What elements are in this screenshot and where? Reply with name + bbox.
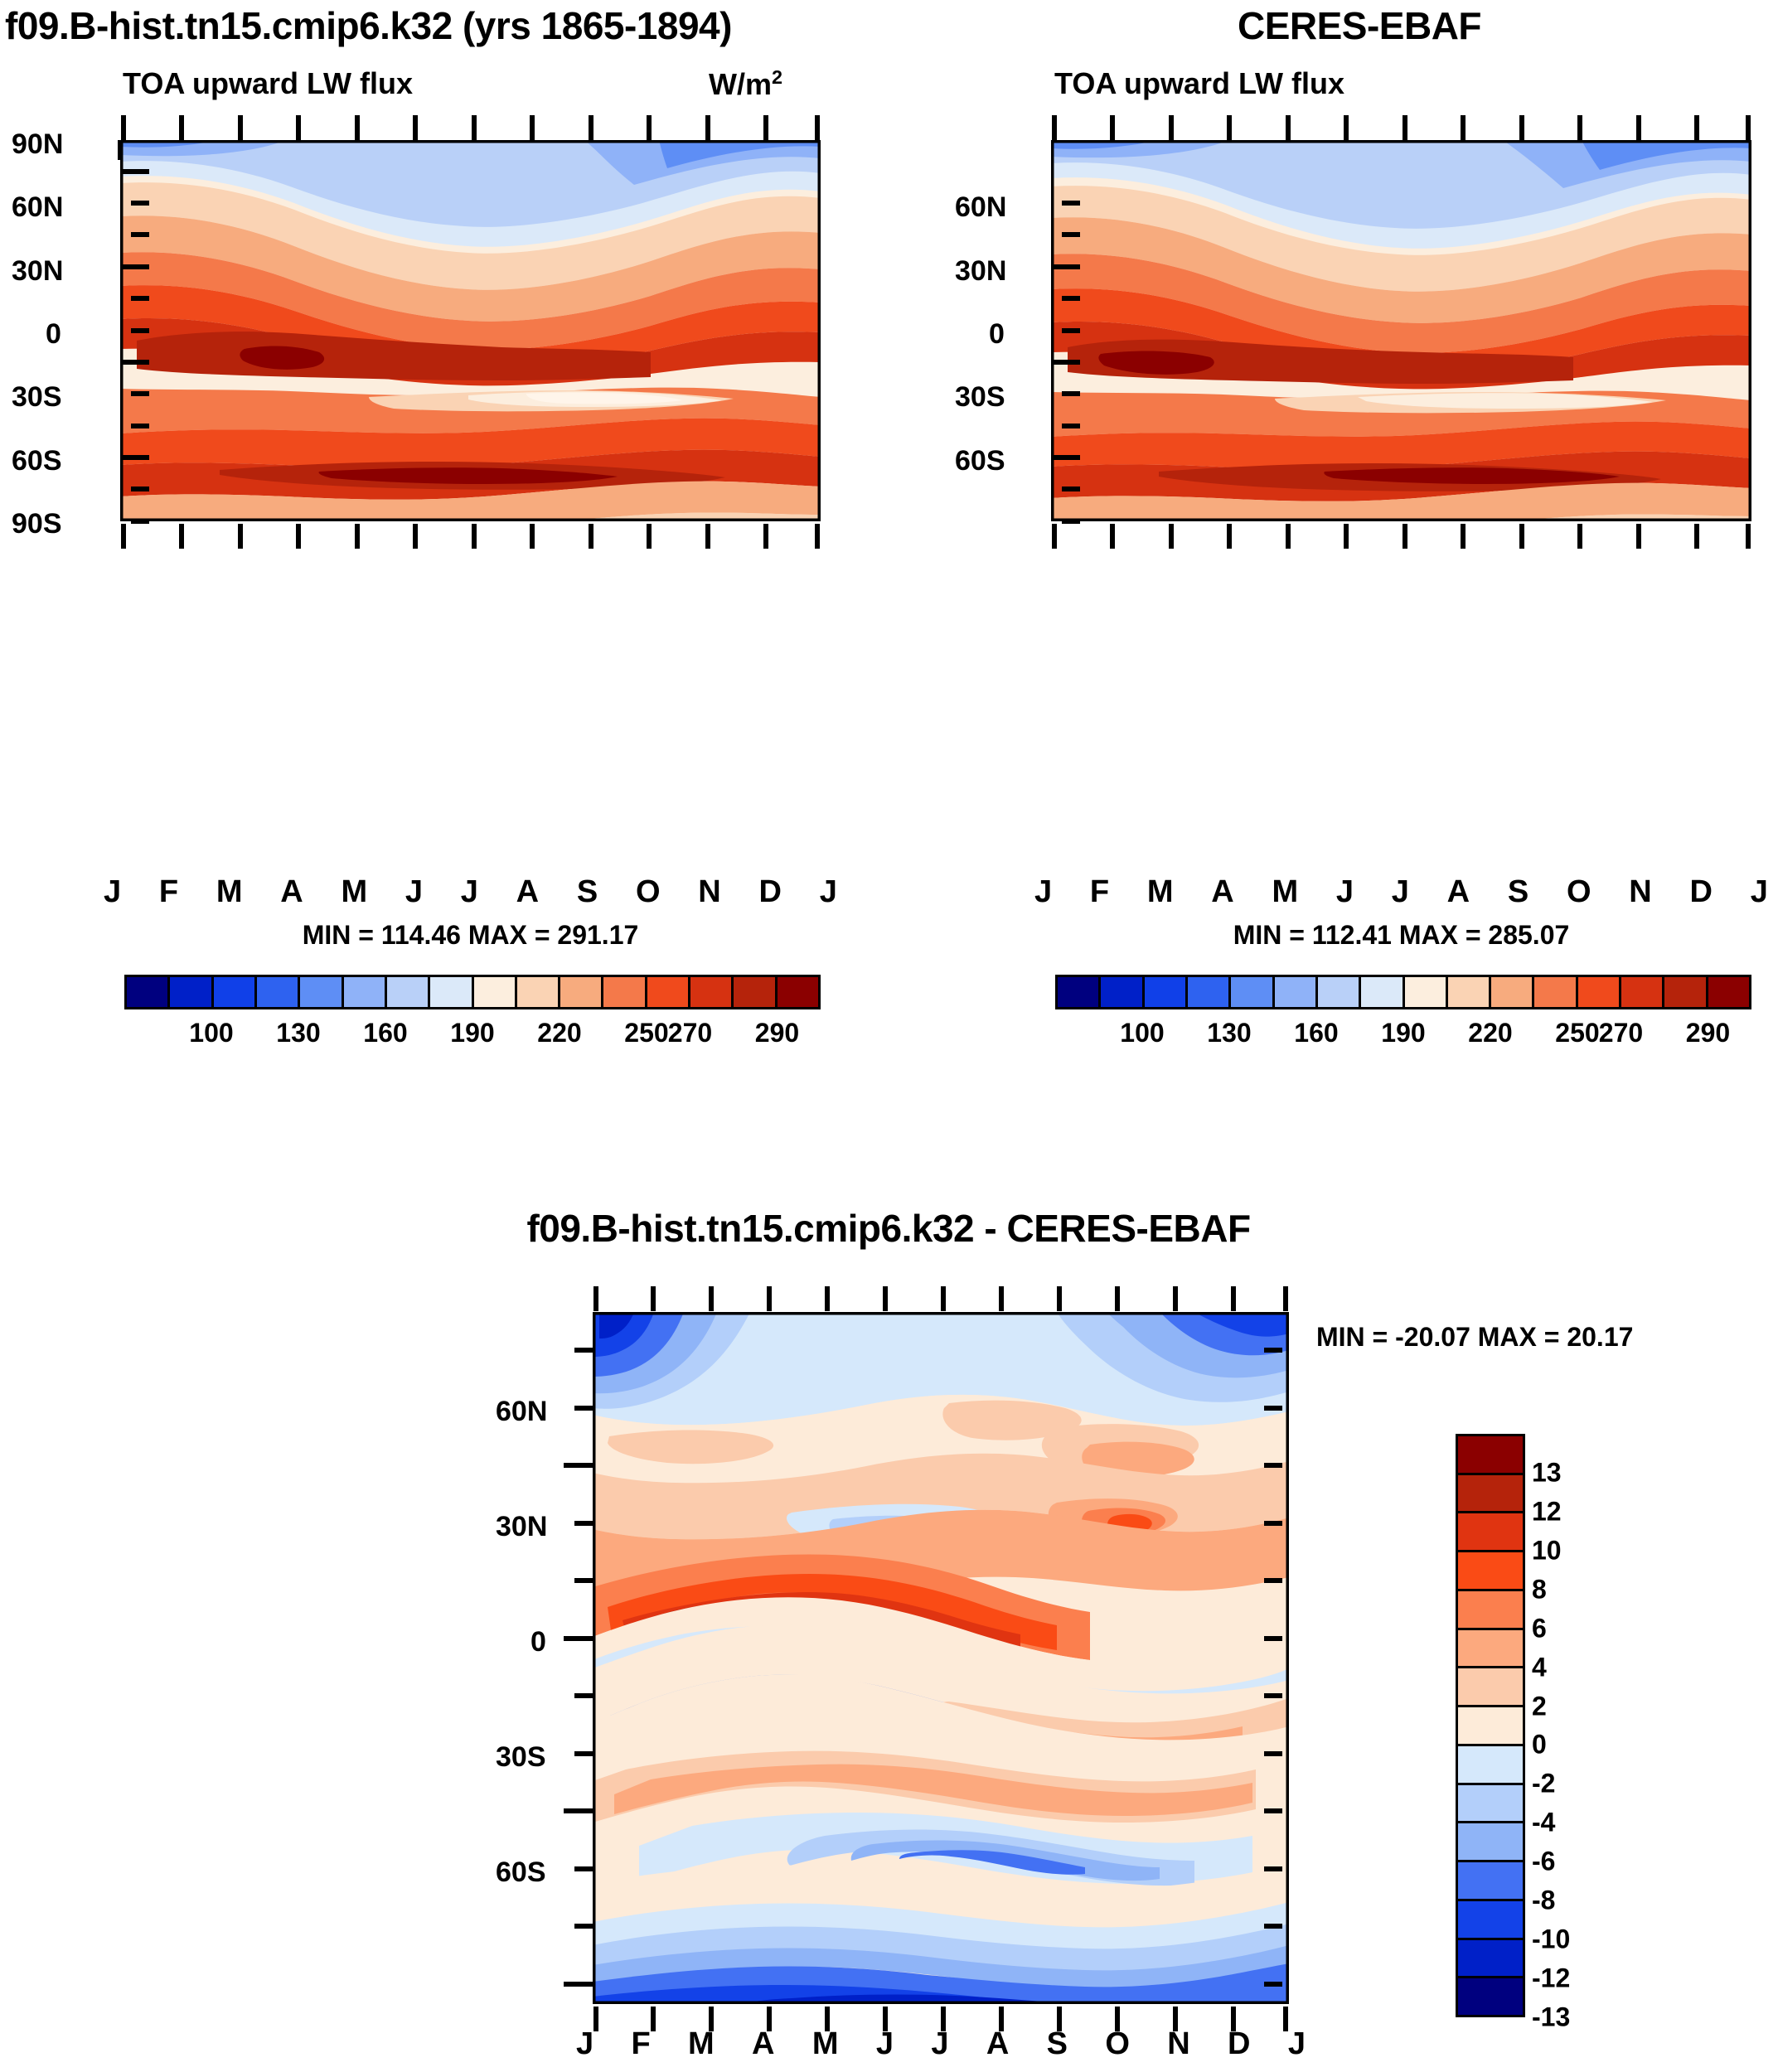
right-colorbar-swatch-6[interactable] [1315, 977, 1359, 1007]
right-y-label-60s: 60S [955, 445, 1005, 477]
diff-month-labels: JFMAMJJASONDJ [576, 2026, 1306, 2062]
right-colorbar-tick-6: 270 [1599, 1018, 1643, 1048]
diff-y-label-0: 0 [530, 1626, 546, 1658]
left-panel-title: f09.B-hist.tn15.cmip6.k32 (yrs 1865-1894… [5, 3, 732, 48]
left-month-labels: JFMAMJJASONDJ [104, 874, 837, 910]
diff-colorbar-swatch-8[interactable] [1458, 1744, 1523, 1783]
diff-colorbar[interactable] [1456, 1434, 1525, 2017]
right-month-label-9: O [1567, 874, 1591, 910]
right-axis-ticks [1014, 120, 1776, 551]
diff-colorbar-tick-4: 6 [1532, 1613, 1547, 1644]
left-month-label-11: D [758, 874, 781, 910]
right-month-label-2: M [1147, 874, 1174, 910]
left-y-label-30n: 30N [12, 255, 63, 288]
right-colorbar-swatch-5[interactable] [1272, 977, 1315, 1007]
right-top-ticks [1051, 112, 1756, 143]
diff-colorbar-swatch-0[interactable] [1458, 1436, 1523, 1473]
left-month-label-2: M [216, 874, 243, 910]
right-month-label-10: N [1629, 874, 1651, 910]
right-month-label-12: J [1751, 874, 1768, 910]
right-colorbar-swatch-11[interactable] [1532, 977, 1575, 1007]
left-colorbar-swatch-9[interactable] [515, 977, 558, 1007]
right-colorbar-tick-1: 130 [1207, 1018, 1251, 1048]
right-bottom-ticks [1051, 520, 1756, 554]
left-month-label-8: S [577, 874, 598, 910]
left-month-label-6: J [461, 874, 478, 910]
diff-colorbar-swatch-7[interactable] [1458, 1705, 1523, 1744]
right-colorbar-swatch-4[interactable] [1228, 977, 1272, 1007]
left-colorbar-tick-0: 100 [189, 1018, 233, 1048]
right-colorbar[interactable] [1055, 975, 1751, 1009]
left-month-label-4: M [341, 874, 367, 910]
right-colorbar-swatch-7[interactable] [1359, 977, 1402, 1007]
diff-month-label-5: J [876, 2026, 894, 2062]
diff-month-label-0: J [576, 2026, 593, 2062]
right-month-label-0: J [1034, 874, 1052, 910]
units-superscript: 2 [772, 66, 782, 88]
right-colorbar-swatch-15[interactable] [1706, 977, 1749, 1007]
diff-colorbar-labels: 13121086420-2-4-6-8-10-12-13 [1532, 1434, 1631, 2017]
right-month-label-3: A [1211, 874, 1233, 910]
left-colorbar-swatch-8[interactable] [472, 977, 515, 1007]
right-colorbar-swatch-9[interactable] [1446, 977, 1489, 1007]
diff-colorbar-swatch-10[interactable] [1458, 1821, 1523, 1860]
diff-colorbar-tick-8: -2 [1532, 1769, 1555, 1799]
diff-month-label-3: A [752, 2026, 774, 2062]
left-colorbar-swatch-11[interactable] [601, 977, 644, 1007]
diff-month-label-8: S [1047, 2026, 1068, 2062]
diff-colorbar-swatch-12[interactable] [1458, 1899, 1523, 1938]
left-bottom-ticks [120, 520, 825, 554]
diff-colorbar-tick-2: 10 [1532, 1535, 1562, 1566]
diff-colorbar-tick-5: 4 [1532, 1652, 1547, 1682]
right-month-label-8: S [1508, 874, 1528, 910]
diff-colorbar-swatch-2[interactable] [1458, 1511, 1523, 1550]
left-panel-subtitle: TOA upward LW flux [123, 66, 413, 101]
diff-month-label-11: D [1228, 2026, 1250, 2062]
right-colorbar-labels: 100130160190220250270290 [1055, 1018, 1751, 1054]
left-y-label-0: 0 [46, 318, 61, 351]
left-top-ticks [120, 112, 825, 143]
right-month-labels: JFMAMJJASONDJ [1034, 874, 1768, 910]
left-colorbar-swatch-15[interactable] [775, 977, 818, 1007]
left-colorbar-swatch-7[interactable] [428, 977, 471, 1007]
left-month-label-5: J [405, 874, 423, 910]
left-y-label-90s: 90S [12, 508, 62, 540]
diff-minmax: MIN = -20.07 MAX = 20.17 [1316, 1322, 1633, 1353]
left-colorbar-swatch-0[interactable] [127, 977, 167, 1007]
right-y-label-30n: 30N [955, 255, 1006, 288]
left-month-label-9: O [636, 874, 661, 910]
diff-month-label-6: J [931, 2026, 948, 2062]
diff-colorbar-swatch-6[interactable] [1458, 1666, 1523, 1705]
left-y-label-30s: 30S [12, 381, 62, 414]
right-month-label-5: J [1336, 874, 1354, 910]
diff-colorbar-swatch-4[interactable] [1458, 1589, 1523, 1628]
left-y-label-90n: 90N [12, 128, 63, 161]
diff-month-label-2: M [688, 2026, 715, 2062]
left-colorbar-swatch-14[interactable] [731, 977, 774, 1007]
left-minmax: MIN = 114.46 MAX = 291.17 [120, 920, 821, 951]
right-colorbar-tick-5: 250 [1555, 1018, 1599, 1048]
diff-colorbar-tick-0: 13 [1532, 1457, 1562, 1488]
right-colorbar-swatch-10[interactable] [1489, 977, 1532, 1007]
diff-month-label-1: F [631, 2026, 650, 2062]
left-colorbar-tick-4: 220 [537, 1018, 581, 1048]
left-month-label-10: N [698, 874, 720, 910]
right-month-label-7: A [1447, 874, 1470, 910]
right-colorbar-tick-2: 160 [1294, 1018, 1338, 1048]
diff-top-ticks [593, 1283, 1293, 1316]
diff-colorbar-tick-11: -8 [1532, 1886, 1555, 1916]
left-y-label-60s: 60S [12, 445, 62, 477]
diff-month-label-9: O [1105, 2026, 1130, 2062]
diff-colorbar-tick-3: 8 [1532, 1574, 1547, 1605]
diff-colorbar-tick-6: 2 [1532, 1691, 1547, 1721]
left-colorbar-swatch-10[interactable] [558, 977, 601, 1007]
left-panel-units: W/m2 [709, 66, 782, 102]
right-month-label-1: F [1090, 874, 1109, 910]
diff-colorbar-tick-10: -6 [1532, 1847, 1555, 1877]
right-month-label-6: J [1392, 874, 1409, 910]
right-y-label-30s: 30S [955, 381, 1005, 414]
right-colorbar-tick-7: 290 [1686, 1018, 1730, 1048]
diff-month-label-7: A [986, 2026, 1009, 2062]
diff-colorbar-tick-12: -10 [1532, 1924, 1570, 1955]
diff-y-label-60n: 60N [496, 1396, 547, 1428]
right-month-label-11: D [1689, 874, 1712, 910]
left-colorbar-swatch-6[interactable] [385, 977, 428, 1007]
diff-axis-ticks [555, 1312, 1301, 2008]
diff-colorbar-tick-9: -4 [1532, 1808, 1555, 1838]
left-colorbar-swatch-13[interactable] [688, 977, 731, 1007]
left-colorbar-swatch-5[interactable] [342, 977, 385, 1007]
right-colorbar-swatch-0[interactable] [1058, 977, 1098, 1007]
diff-month-label-4: M [812, 2026, 839, 2062]
left-colorbar[interactable] [124, 975, 821, 1009]
right-colorbar-swatch-13[interactable] [1619, 977, 1662, 1007]
right-minmax: MIN = 112.41 MAX = 285.07 [1051, 920, 1751, 951]
diff-y-label-30n: 30N [496, 1511, 547, 1543]
right-colorbar-swatch-1[interactable] [1098, 977, 1141, 1007]
diff-colorbar-tick-14: -13 [1532, 2002, 1570, 2033]
left-colorbar-swatch-1[interactable] [167, 977, 211, 1007]
left-colorbar-tick-5: 250 [624, 1018, 668, 1048]
diff-colorbar-swatch-14[interactable] [1458, 1976, 1523, 2015]
units-text: W/m [709, 67, 772, 101]
left-month-label-0: J [104, 874, 121, 910]
left-colorbar-labels: 100130160190220250270290 [124, 1018, 821, 1054]
left-month-label-12: J [820, 874, 837, 910]
diff-colorbar-swatch-11[interactable] [1458, 1860, 1523, 1899]
left-month-label-3: A [280, 874, 303, 910]
left-colorbar-swatch-12[interactable] [645, 977, 688, 1007]
left-axis-ticks [83, 120, 845, 551]
diff-panel-title: f09.B-hist.tn15.cmip6.k32 - CERES-EBAF [308, 1206, 1469, 1251]
diff-colorbar-tick-13: -12 [1532, 1963, 1570, 1994]
diff-colorbar-tick-1: 12 [1532, 1496, 1562, 1527]
left-colorbar-tick-2: 160 [363, 1018, 407, 1048]
left-month-label-7: A [516, 874, 539, 910]
diff-colorbar-swatch-13[interactable] [1458, 1938, 1523, 1977]
right-colorbar-tick-4: 220 [1468, 1018, 1512, 1048]
right-colorbar-tick-0: 100 [1120, 1018, 1164, 1048]
right-colorbar-swatch-2[interactable] [1142, 977, 1185, 1007]
diff-colorbar-swatch-9[interactable] [1458, 1783, 1523, 1822]
left-colorbar-swatch-2[interactable] [211, 977, 254, 1007]
right-colorbar-swatch-8[interactable] [1403, 977, 1446, 1007]
diff-colorbar-swatch-3[interactable] [1458, 1550, 1523, 1589]
diff-colorbar-swatch-5[interactable] [1458, 1628, 1523, 1667]
left-colorbar-tick-3: 190 [450, 1018, 494, 1048]
right-y-label-0: 0 [989, 318, 1005, 351]
left-colorbar-swatch-4[interactable] [298, 977, 341, 1007]
right-panel-subtitle: TOA upward LW flux [1054, 66, 1344, 101]
left-colorbar-swatch-3[interactable] [254, 977, 298, 1007]
left-colorbar-tick-7: 290 [755, 1018, 799, 1048]
right-y-label-60n: 60N [955, 191, 1006, 224]
diff-month-label-10: N [1167, 2026, 1189, 2062]
right-month-label-4: M [1272, 874, 1298, 910]
diff-colorbar-tick-7: 0 [1532, 1730, 1547, 1760]
left-y-label-60n: 60N [12, 191, 63, 224]
right-colorbar-tick-3: 190 [1381, 1018, 1425, 1048]
right-colorbar-swatch-14[interactable] [1662, 977, 1705, 1007]
diff-colorbar-swatch-1[interactable] [1458, 1473, 1523, 1512]
left-colorbar-tick-6: 270 [668, 1018, 712, 1048]
left-month-label-1: F [159, 874, 178, 910]
diff-month-label-12: J [1288, 2026, 1306, 2062]
diff-y-label-60s: 60S [496, 1857, 546, 1889]
right-panel-title: CERES-EBAF [1069, 3, 1650, 48]
right-colorbar-swatch-3[interactable] [1185, 977, 1228, 1007]
left-colorbar-tick-1: 130 [276, 1018, 320, 1048]
diff-y-label-30s: 30S [496, 1741, 546, 1774]
right-colorbar-swatch-12[interactable] [1576, 977, 1619, 1007]
